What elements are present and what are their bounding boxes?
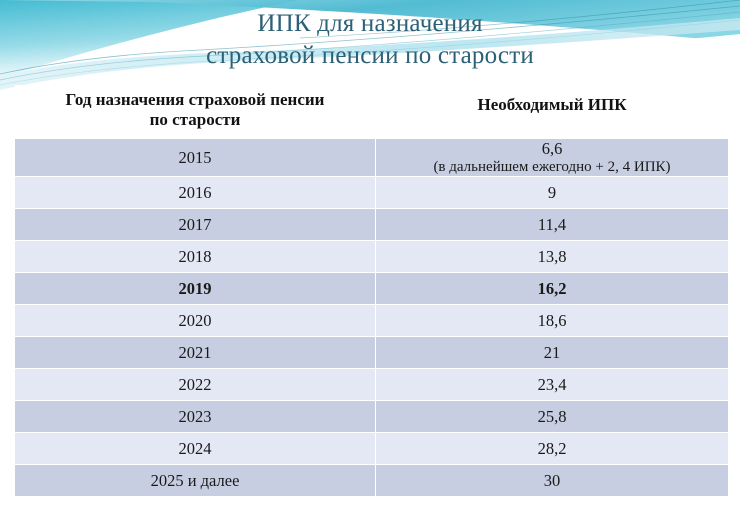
- cell-ipk-value: 11,4: [376, 209, 729, 241]
- cell-ipk-value: 21: [376, 337, 729, 369]
- ipk-value: 6,6: [376, 139, 728, 158]
- column-header-ipk-label: Необходимый ИПК: [477, 95, 626, 114]
- ipk-table-container: Год назначения страховой пенсии по старо…: [14, 85, 728, 497]
- page-title-line-1: ИПК для назначения: [0, 8, 740, 40]
- ipk-table: Год назначения страховой пенсии по старо…: [14, 85, 729, 497]
- cell-year: 2020: [15, 305, 376, 337]
- ipk-value: 11,4: [376, 215, 728, 234]
- table-header-row: Год назначения страховой пенсии по старо…: [15, 85, 729, 139]
- table-row: 202018,6: [15, 305, 729, 337]
- cell-ipk-value: 25,8: [376, 401, 729, 433]
- table-row: 2025 и далее30: [15, 465, 729, 497]
- page-title-line-2: страховой пенсии по старости: [0, 40, 740, 72]
- column-header-year: Год назначения страховой пенсии по старо…: [15, 85, 376, 139]
- cell-ipk-value: 6,6(в дальнейшем ежегодно + 2, 4 ИПК): [376, 139, 729, 177]
- cell-year: 2016: [15, 177, 376, 209]
- table-row: 20169: [15, 177, 729, 209]
- column-header-year-line-1: Год назначения страховой пенсии: [66, 90, 325, 109]
- page-title: ИПК для назначения страховой пенсии по с…: [0, 8, 740, 72]
- cell-ipk-value: 13,8: [376, 241, 729, 273]
- table-body: 20156,6(в дальнейшем ежегодно + 2, 4 ИПК…: [15, 139, 729, 497]
- ipk-value: 28,2: [376, 439, 728, 458]
- column-header-year-line-2: по старости: [150, 110, 241, 129]
- cell-ipk-value: 18,6: [376, 305, 729, 337]
- ipk-value: 23,4: [376, 375, 728, 394]
- table-row: 201813,8: [15, 241, 729, 273]
- cell-year: 2017: [15, 209, 376, 241]
- ipk-value: 21: [376, 343, 728, 362]
- cell-ipk-value: 16,2: [376, 273, 729, 305]
- ipk-value: 16,2: [376, 279, 728, 298]
- cell-year: 2022: [15, 369, 376, 401]
- table-header: Год назначения страховой пенсии по старо…: [15, 85, 729, 139]
- cell-year: 2015: [15, 139, 376, 177]
- cell-ipk-value: 28,2: [376, 433, 729, 465]
- cell-year: 2019: [15, 273, 376, 305]
- table-row: 201711,4: [15, 209, 729, 241]
- cell-year: 2018: [15, 241, 376, 273]
- cell-year: 2021: [15, 337, 376, 369]
- ipk-value: 30: [376, 471, 728, 490]
- table-row: 202223,4: [15, 369, 729, 401]
- ipk-value: 18,6: [376, 311, 728, 330]
- cell-year: 2024: [15, 433, 376, 465]
- ipk-value: 9: [376, 183, 728, 202]
- cell-ipk-value: 9: [376, 177, 729, 209]
- ipk-value: 13,8: [376, 247, 728, 266]
- table-row: 202325,8: [15, 401, 729, 433]
- cell-year: 2023: [15, 401, 376, 433]
- cell-ipk-value: 23,4: [376, 369, 729, 401]
- ipk-value: 25,8: [376, 407, 728, 426]
- cell-ipk-value: 30: [376, 465, 729, 497]
- table-row: 201916,2: [15, 273, 729, 305]
- table-row: 202121: [15, 337, 729, 369]
- table-row: 202428,2: [15, 433, 729, 465]
- ipk-value-note: (в дальнейшем ежегодно + 2, 4 ИПК): [376, 158, 728, 176]
- cell-year: 2025 и далее: [15, 465, 376, 497]
- table-row: 20156,6(в дальнейшем ежегодно + 2, 4 ИПК…: [15, 139, 729, 177]
- column-header-ipk: Необходимый ИПК: [376, 85, 729, 139]
